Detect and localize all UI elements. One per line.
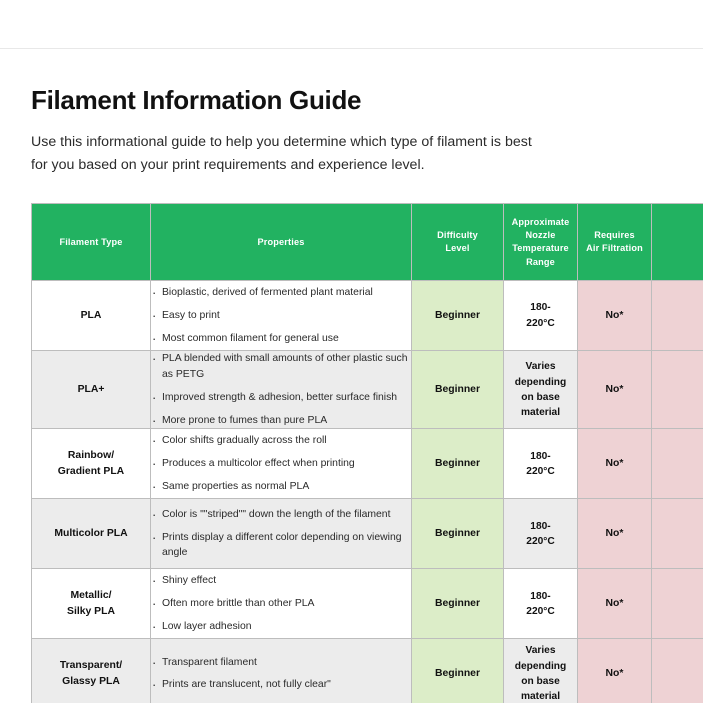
column-header-label-line2: Air Filtration [586, 243, 643, 253]
cell-difficulty-level: Beginner [412, 639, 504, 703]
cell-requires-heated-enclosure: No [652, 429, 703, 499]
table-row: PLA+PLA blended with small amounts of ot… [32, 351, 703, 429]
filament-type-line1: Transparent/ [60, 660, 122, 671]
document-page: Filament Information Guide Use this info… [0, 0, 703, 703]
property-bullet: Improved strength & adhesion, better sur… [151, 390, 411, 406]
property-bullet: More prone to fumes than pure PLA [151, 413, 411, 429]
column-header-nozzle-temperature: Approximate Nozzle Temperature Range [504, 204, 578, 281]
filament-type-line1: PLA [81, 310, 102, 321]
cell-properties: Color shifts gradually across the rollPr… [151, 429, 412, 499]
nozzle-temperature-line3: on base [521, 392, 560, 403]
column-header-requires-heated-enclosure: Requires Heated Enclosure [652, 204, 703, 281]
cell-properties: PLA blended with small amounts of other … [151, 351, 412, 429]
nozzle-temperature-line3: on base [521, 676, 560, 687]
cell-nozzle-temperature: Variesdependingon basematerial [504, 639, 578, 703]
table-row: Metallic/Silky PLAShiny effectOften more… [32, 569, 703, 639]
table-row: Multicolor PLAColor is ""striped"" down … [32, 499, 703, 569]
cell-requires-air-filtration: No* [578, 569, 652, 639]
cell-requires-heated-enclosure: No [652, 569, 703, 639]
property-bullet: Prints are translucent, not fully clear" [151, 677, 411, 693]
cell-filament-type: Rainbow/Gradient PLA [32, 429, 151, 499]
cell-requires-air-filtration: No* [578, 429, 652, 499]
table-header-row: Filament Type Properties Difficulty Leve… [32, 204, 703, 281]
filament-type-line2: Gradient PLA [58, 466, 124, 477]
cell-filament-type: Transparent/Glassy PLA [32, 639, 151, 703]
column-header-label-line4: Range [526, 257, 555, 267]
property-bullet: Most common filament for general use [151, 331, 411, 347]
column-header-filament-type: Filament Type [32, 204, 151, 281]
filament-type-line1: Multicolor PLA [54, 528, 127, 539]
nozzle-temperature-line1: Varies [525, 645, 555, 656]
cell-requires-air-filtration: No* [578, 499, 652, 569]
nozzle-temperature-line4: material [521, 691, 560, 702]
nozzle-temperature-line2: 220°C [526, 318, 554, 329]
table-body: PLABioplastic, derived of fermented plan… [32, 281, 703, 703]
cell-difficulty-level: Beginner [412, 351, 504, 429]
property-bullet: Color is ""striped"" down the length of … [151, 507, 411, 523]
page-subtitle: Use this informational guide to help you… [31, 116, 551, 177]
nozzle-temperature-line4: material [521, 407, 560, 418]
cell-difficulty-level: Beginner [412, 569, 504, 639]
cell-difficulty-level: Beginner [412, 429, 504, 499]
nozzle-temperature-line1: 180- [530, 591, 550, 602]
cell-properties: Transparent filamentPrints are transluce… [151, 639, 412, 703]
nozzle-temperature-line2: 220°C [526, 536, 554, 547]
filament-type-line2: Glassy PLA [62, 676, 120, 687]
nozzle-temperature-line1: 180- [530, 302, 550, 313]
cell-properties: Color is ""striped"" down the length of … [151, 499, 412, 569]
property-bullet: PLA blended with small amounts of other … [151, 351, 411, 383]
property-bullet: Same properties as normal PLA [151, 479, 411, 495]
cell-nozzle-temperature: 180-220°C [504, 569, 578, 639]
property-bullet: Color shifts gradually across the roll [151, 433, 411, 449]
column-header-label-line1: Requires [594, 230, 635, 240]
table-row: PLABioplastic, derived of fermented plan… [32, 281, 703, 351]
properties-list: Bioplastic, derived of fermented plant m… [151, 285, 411, 346]
property-bullet: Bioplastic, derived of fermented plant m… [151, 285, 411, 301]
column-header-difficulty-level: Difficulty Level [412, 204, 504, 281]
properties-list: Color shifts gradually across the rollPr… [151, 433, 411, 494]
cell-nozzle-temperature: 180-220°C [504, 281, 578, 351]
properties-list: Color is ""striped"" down the length of … [151, 507, 411, 561]
column-header-label: Properties [258, 237, 305, 247]
table-row: Rainbow/Gradient PLAColor shifts gradual… [32, 429, 703, 499]
cell-requires-air-filtration: No* [578, 351, 652, 429]
cell-nozzle-temperature: 180-220°C [504, 429, 578, 499]
cell-requires-air-filtration: No* [578, 639, 652, 703]
cell-requires-air-filtration: No* [578, 281, 652, 351]
column-header-label: Filament Type [59, 237, 122, 247]
cell-difficulty-level: Beginner [412, 499, 504, 569]
properties-list: PLA blended with small amounts of other … [151, 351, 411, 428]
document-content: Filament Information Guide Use this info… [31, 48, 703, 703]
cell-requires-heated-enclosure: No [652, 351, 703, 429]
property-bullet: Transparent filament [151, 655, 411, 671]
filament-type-line1: Rainbow/ [68, 450, 114, 461]
cell-filament-type: PLA+ [32, 351, 151, 429]
table-row: Transparent/Glassy PLATransparent filame… [32, 639, 703, 703]
column-header-label-line3: Temperature [512, 243, 569, 253]
column-header-requires-air-filtration: Requires Air Filtration [578, 204, 652, 281]
cell-requires-heated-enclosure: No [652, 499, 703, 569]
property-bullet: Shiny effect [151, 573, 411, 589]
table-header: Filament Type Properties Difficulty Leve… [32, 204, 703, 281]
property-bullet: Produces a multicolor effect when printi… [151, 456, 411, 472]
page-title: Filament Information Guide [31, 48, 703, 116]
cell-requires-heated-enclosure: No [652, 639, 703, 703]
nozzle-temperature-line2: depending [515, 377, 567, 388]
cell-properties: Shiny effectOften more brittle than othe… [151, 569, 412, 639]
column-header-properties: Properties [151, 204, 412, 281]
nozzle-temperature-line1: 180- [530, 451, 550, 462]
cell-properties: Bioplastic, derived of fermented plant m… [151, 281, 412, 351]
cell-nozzle-temperature: Variesdependingon basematerial [504, 351, 578, 429]
filament-table-container: Filament Type Properties Difficulty Leve… [31, 203, 703, 703]
nozzle-temperature-line2: 220°C [526, 466, 554, 477]
column-header-label-line1: Approximate [512, 217, 570, 227]
column-header-label-line2: Level [445, 243, 469, 253]
property-bullet: Low layer adhesion [151, 619, 411, 635]
property-bullet: Easy to print [151, 308, 411, 324]
filament-type-line1: Metallic/ [71, 590, 112, 601]
cell-filament-type: Metallic/Silky PLA [32, 569, 151, 639]
cell-difficulty-level: Beginner [412, 281, 504, 351]
properties-list: Shiny effectOften more brittle than othe… [151, 573, 411, 634]
cell-filament-type: Multicolor PLA [32, 499, 151, 569]
nozzle-temperature-line2: 220°C [526, 606, 554, 617]
cell-requires-heated-enclosure: No [652, 281, 703, 351]
nozzle-temperature-line1: Varies [525, 361, 555, 372]
column-header-label-line2: Nozzle [526, 230, 556, 240]
nozzle-temperature-line1: 180- [530, 521, 550, 532]
filament-information-table: Filament Type Properties Difficulty Leve… [31, 203, 703, 703]
property-bullet: Often more brittle than other PLA [151, 596, 411, 612]
properties-list: Transparent filamentPrints are transluce… [151, 655, 411, 694]
cell-filament-type: PLA [32, 281, 151, 351]
nozzle-temperature-line2: depending [515, 661, 567, 672]
cell-nozzle-temperature: 180-220°C [504, 499, 578, 569]
property-bullet: Prints display a different color dependi… [151, 530, 411, 562]
column-header-label-line1: Difficulty [437, 230, 478, 240]
filament-type-line1: PLA+ [78, 384, 105, 395]
filament-type-line2: Silky PLA [67, 606, 115, 617]
